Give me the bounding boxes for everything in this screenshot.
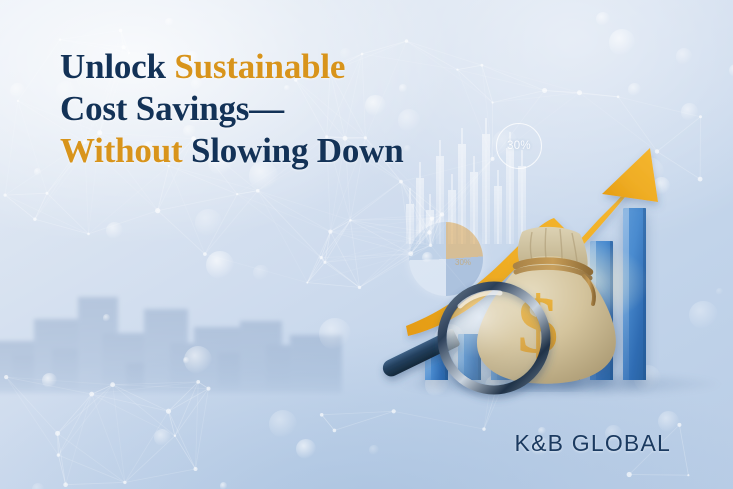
- bokeh-dot: [658, 411, 679, 432]
- headline-line-1: Unlock Sustainable: [60, 46, 460, 88]
- bokeh-dot: [269, 410, 297, 438]
- headline-line-3-b: Slowing Down: [191, 131, 404, 170]
- bokeh-dot: [220, 482, 227, 489]
- arrow-head: [602, 148, 658, 202]
- bokeh-dot: [689, 301, 717, 329]
- bokeh-dot: [369, 445, 379, 455]
- headline-line-1-b: Sustainable: [174, 47, 345, 86]
- bokeh-dot: [609, 29, 636, 56]
- bokeh-dot: [34, 168, 41, 175]
- bokeh-dot: [32, 483, 45, 489]
- bokeh-dot: [154, 429, 171, 446]
- headline-line-3-a: Without: [60, 131, 191, 170]
- magnifying-glass-icon: [374, 278, 574, 408]
- bokeh-dot: [596, 12, 610, 26]
- headline-line-2: Cost Savings—: [60, 88, 460, 130]
- headline-line-3: Without Slowing Down: [60, 130, 460, 172]
- bokeh-dot: [716, 288, 723, 295]
- headline: Unlock Sustainable Cost Savings— Without…: [60, 46, 460, 172]
- bokeh-dot: [729, 64, 733, 77]
- headline-line-1-a: Unlock: [60, 47, 174, 86]
- bokeh-dot: [681, 103, 699, 121]
- bokeh-dot: [676, 48, 692, 64]
- brand-logo: K&B GLOBAL: [515, 430, 671, 457]
- bokeh-dot: [195, 209, 222, 236]
- bokeh-dot: [165, 18, 173, 26]
- promo-banner: 30% 30%: [0, 0, 733, 489]
- bokeh-dot: [106, 222, 124, 240]
- city-skyline: [0, 243, 320, 393]
- bokeh-dot: [296, 439, 316, 459]
- skyline-building: [290, 335, 342, 393]
- bokeh-dot: [628, 83, 641, 96]
- bokeh-dot: [10, 83, 26, 99]
